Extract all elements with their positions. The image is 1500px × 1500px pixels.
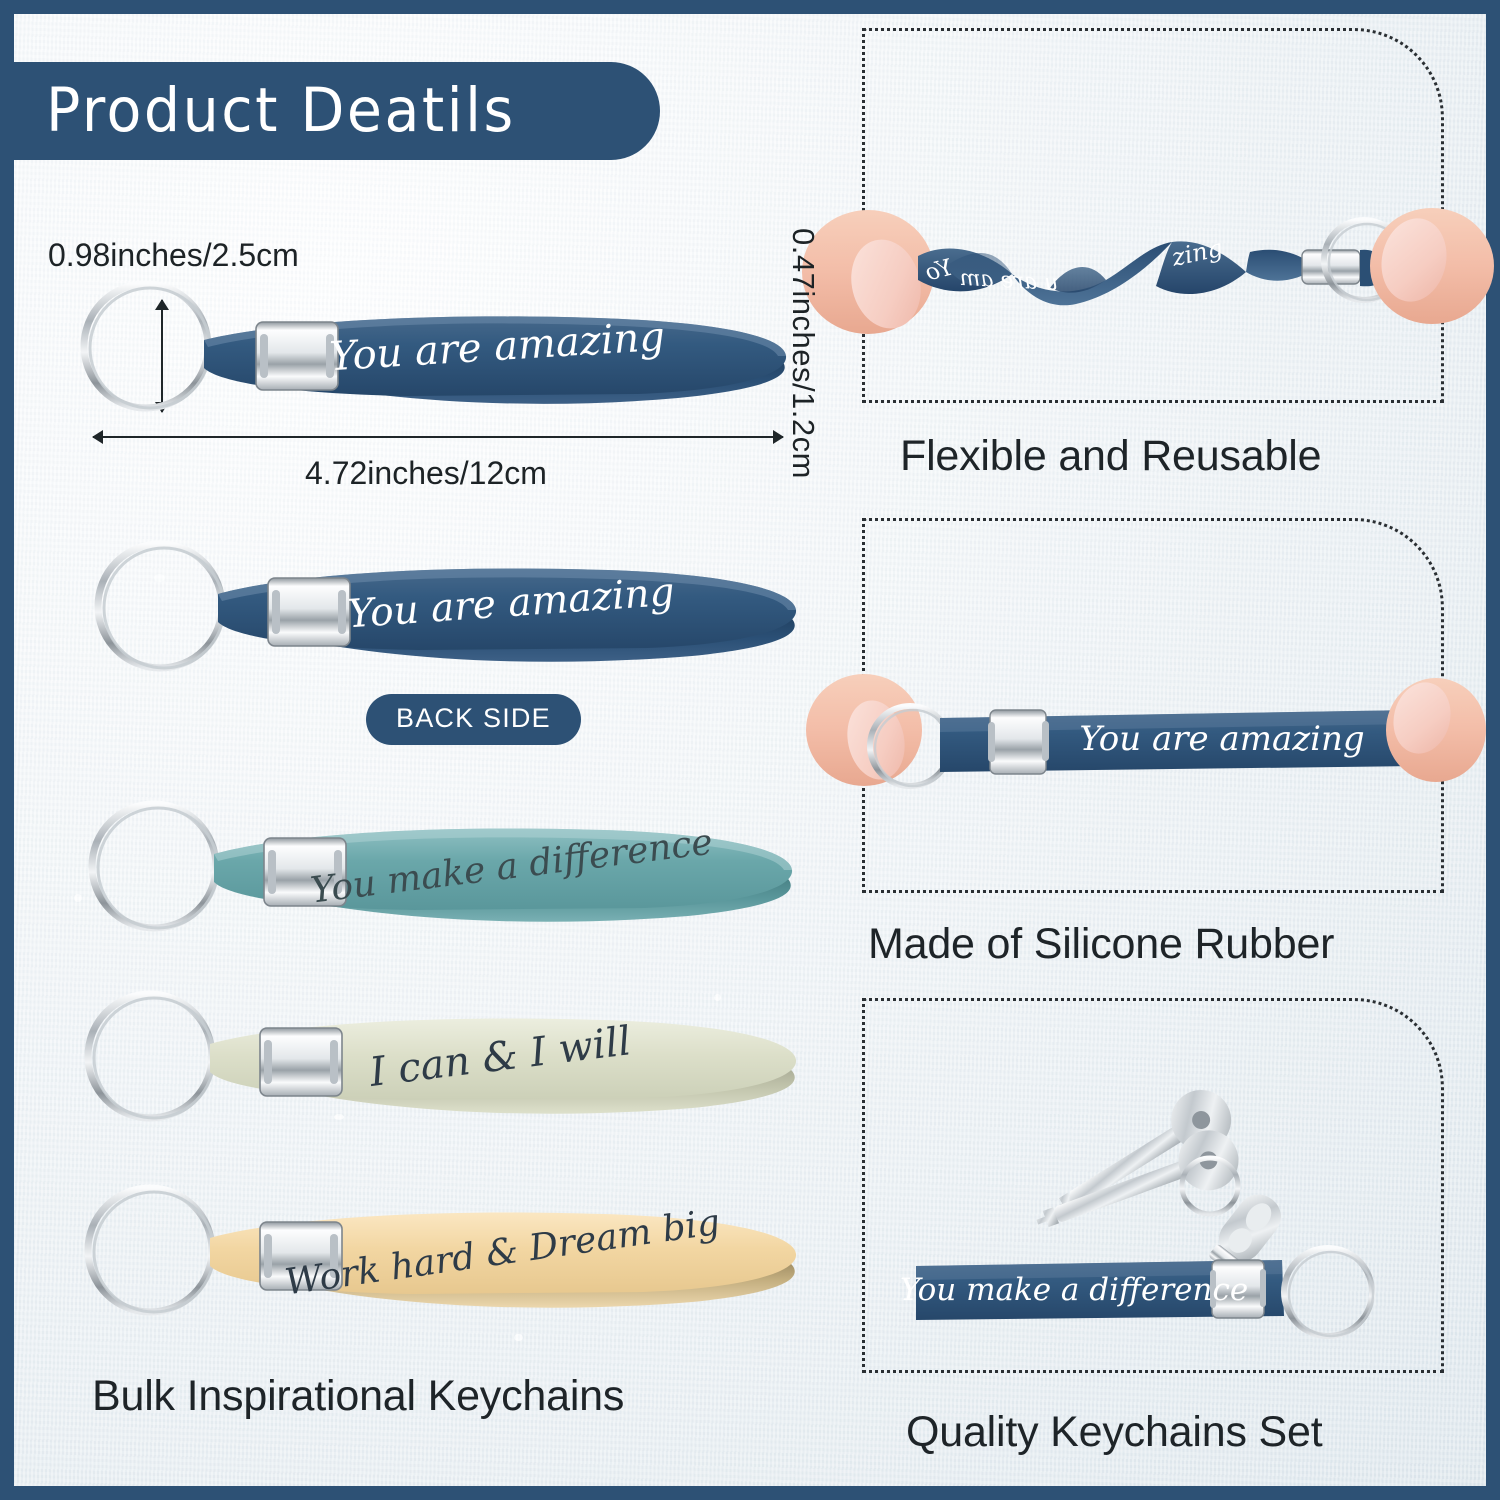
total-length-label: 4.72inches/12cm: [305, 455, 547, 492]
page-title: Product Deatils: [46, 76, 516, 146]
caption-made-of-silicone: Made of Silicone Rubber: [868, 920, 1334, 969]
left-column: 0.98inches/2.5cm 4.72inches/12cm 0.47inc…: [0, 0, 830, 1500]
caption-flexible-reusable: Flexible and Reusable: [900, 432, 1321, 481]
keychain-teal: You make a difference: [88, 788, 808, 948]
caption-bulk-inspirational: Bulk Inspirational Keychains: [92, 1372, 624, 1421]
keychain-sage: I can & I will: [84, 978, 814, 1138]
split-ring-icon: [1284, 1248, 1373, 1336]
infographic-canvas: Product Deatils 0.98inches/2.5cm 4.72inc…: [0, 0, 1500, 1500]
ring-diameter-label: 0.98inches/2.5cm: [48, 237, 299, 274]
metal-clamp: [256, 322, 338, 390]
right-hand-icon: [1370, 208, 1494, 324]
svg-text:u are am: u are am: [959, 266, 1059, 296]
keychain-text-quality-panel: You make a difference: [900, 1272, 1248, 1308]
split-ring-icon: [88, 1188, 214, 1312]
keychain-navy-back: You are amazing: [92, 528, 812, 688]
key-icon-2: [1027, 1122, 1247, 1251]
caption-quality-keychains-set: Quality Keychains Set: [906, 1408, 1322, 1457]
keychain-text-silicone-panel: You are amazing: [1079, 719, 1364, 759]
page-title-pill: Product Deatils: [0, 62, 660, 160]
total-length-arrow: [93, 436, 783, 438]
split-ring-icon: [98, 544, 224, 668]
silicone-panel-photo: You are amazing: [862, 518, 1444, 893]
twisted-keychain: Yo u are am zing: [918, 234, 1316, 305]
split-ring-icon: [92, 804, 218, 928]
metal-clamp: [260, 1028, 342, 1096]
back-side-badge: BACK SIDE: [366, 694, 581, 745]
split-ring-icon: [88, 994, 214, 1118]
keychain-navy-front: You are amazing: [78, 278, 808, 418]
quality-panel-photo: You make a difference: [862, 998, 1444, 1373]
metal-clamp: [268, 578, 350, 646]
metal-clamp: [988, 710, 1049, 774]
split-ring-icon: [84, 284, 210, 408]
flexible-panel-photo: Yo u are am zing: [862, 28, 1444, 403]
keychain-tan: Work hard & Dream big: [84, 1168, 814, 1338]
